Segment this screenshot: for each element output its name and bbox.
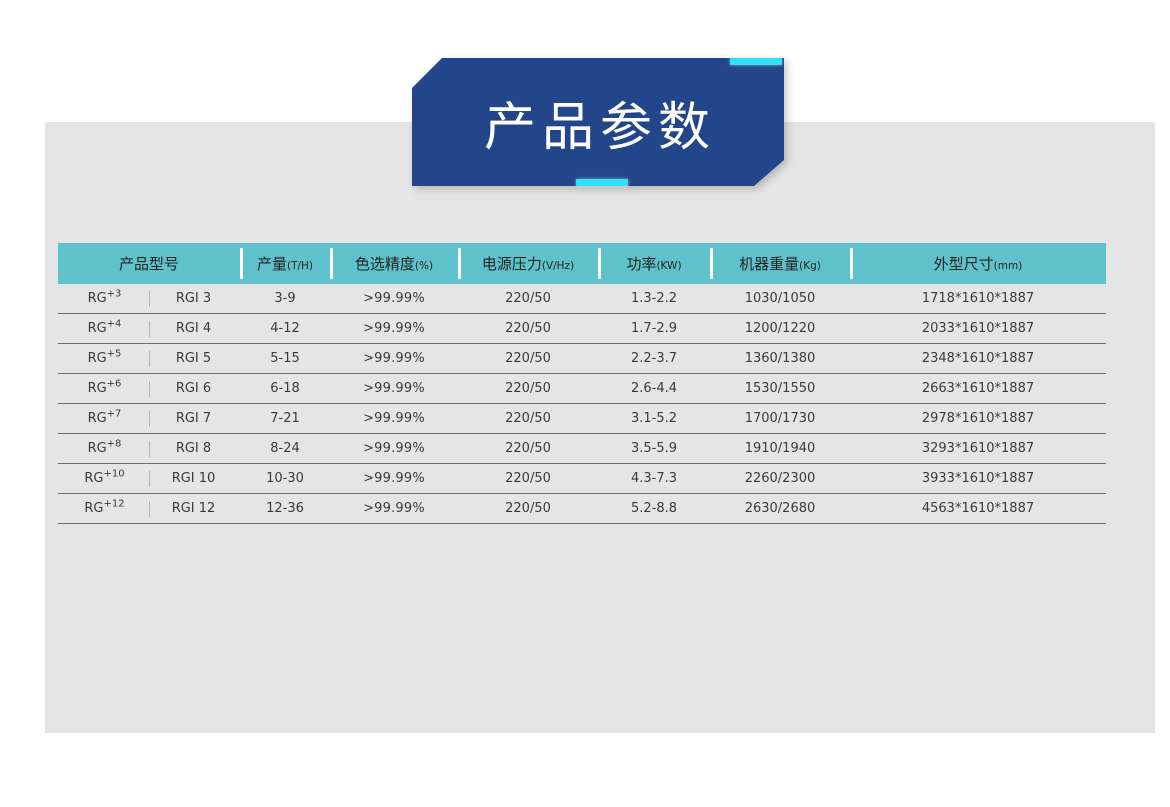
cell-voltage: 220/50 bbox=[458, 374, 598, 404]
cell-power: 4.3-7.3 bbox=[598, 464, 710, 494]
column-unit: (%) bbox=[415, 260, 433, 272]
model-secondary: RGI 10 bbox=[150, 471, 238, 486]
cell-accuracy: >99.99% bbox=[330, 344, 458, 374]
cell-accuracy: >99.99% bbox=[330, 374, 458, 404]
cell-weight: 2260/2300 bbox=[710, 464, 850, 494]
model-secondary: RGI 7 bbox=[150, 411, 238, 426]
cell-power: 2.6-4.4 bbox=[598, 374, 710, 404]
cell-dimensions: 3293*1610*1887 bbox=[850, 434, 1106, 464]
page-title-banner: 产品参数 bbox=[412, 58, 784, 186]
cell-power: 1.3-2.2 bbox=[598, 284, 710, 314]
column-unit: (V/Hz) bbox=[542, 260, 574, 272]
cell-power: 3.5-5.9 bbox=[598, 434, 710, 464]
cell-model: RG+8RGI 8 bbox=[58, 434, 240, 464]
cell-voltage: 220/50 bbox=[458, 344, 598, 374]
cell-model: RG+3RGI 3 bbox=[58, 284, 240, 314]
column-label: 产品型号 bbox=[119, 255, 179, 273]
cell-accuracy: >99.99% bbox=[330, 284, 458, 314]
page-title: 产品参数 bbox=[412, 58, 784, 186]
cell-weight: 1360/1380 bbox=[710, 344, 850, 374]
cell-accuracy: >99.99% bbox=[330, 464, 458, 494]
table-row: RG+12RGI 1212-36>99.99%220/505.2-8.82630… bbox=[58, 494, 1106, 524]
cell-voltage: 220/50 bbox=[458, 314, 598, 344]
cell-power: 5.2-8.8 bbox=[598, 494, 710, 524]
product-parameters-table: 产品型号 产量(T/H) 色选精度(%) 电源压力(V/Hz) 功率(KW) 机… bbox=[58, 243, 1106, 524]
column-header-voltage: 电源压力(V/Hz) bbox=[458, 243, 598, 284]
cell-model: RG+6RGI 6 bbox=[58, 374, 240, 404]
cell-model: RG+4RGI 4 bbox=[58, 314, 240, 344]
accent-bar-bottom bbox=[576, 179, 628, 186]
table-row: RG+3RGI 33-9>99.99%220/501.3-2.21030/105… bbox=[58, 284, 1106, 314]
model-primary: RG+8 bbox=[61, 441, 149, 456]
table-row: RG+10RGI 1010-30>99.99%220/504.3-7.32260… bbox=[58, 464, 1106, 494]
cell-accuracy: >99.99% bbox=[330, 494, 458, 524]
column-label: 色选精度 bbox=[355, 255, 415, 273]
model-secondary: RGI 8 bbox=[150, 441, 238, 456]
cell-accuracy: >99.99% bbox=[330, 404, 458, 434]
cell-weight: 1700/1730 bbox=[710, 404, 850, 434]
table-row: RG+5RGI 55-15>99.99%220/502.2-3.71360/13… bbox=[58, 344, 1106, 374]
cell-weight: 2630/2680 bbox=[710, 494, 850, 524]
cell-output: 8-24 bbox=[240, 434, 330, 464]
cell-voltage: 220/50 bbox=[458, 404, 598, 434]
column-header-model: 产品型号 bbox=[58, 243, 240, 284]
column-label: 外型尺寸 bbox=[934, 255, 994, 273]
cell-dimensions: 2978*1610*1887 bbox=[850, 404, 1106, 434]
model-secondary: RGI 4 bbox=[150, 321, 238, 336]
column-label: 机器重量 bbox=[739, 255, 799, 273]
model-primary: RG+12 bbox=[61, 501, 149, 516]
model-secondary: RGI 6 bbox=[150, 381, 238, 396]
model-primary: RG+4 bbox=[61, 321, 149, 336]
column-label: 电源压力 bbox=[482, 255, 542, 273]
column-header-output: 产量(T/H) bbox=[240, 243, 330, 284]
column-unit: (T/H) bbox=[287, 260, 313, 272]
cell-output: 3-9 bbox=[240, 284, 330, 314]
table-body: RG+3RGI 33-9>99.99%220/501.3-2.21030/105… bbox=[58, 284, 1106, 524]
model-primary: RG+3 bbox=[61, 291, 149, 306]
cell-dimensions: 1718*1610*1887 bbox=[850, 284, 1106, 314]
column-header-weight: 机器重量(Kg) bbox=[710, 243, 850, 284]
column-unit: (mm) bbox=[994, 260, 1023, 272]
table-row: RG+6RGI 66-18>99.99%220/502.6-4.41530/15… bbox=[58, 374, 1106, 404]
cell-voltage: 220/50 bbox=[458, 494, 598, 524]
cell-weight: 1030/1050 bbox=[710, 284, 850, 314]
cell-power: 3.1-5.2 bbox=[598, 404, 710, 434]
column-unit: (KW) bbox=[656, 260, 681, 272]
column-header-power: 功率(KW) bbox=[598, 243, 710, 284]
cell-dimensions: 4563*1610*1887 bbox=[850, 494, 1106, 524]
cell-output: 7-21 bbox=[240, 404, 330, 434]
cell-weight: 1910/1940 bbox=[710, 434, 850, 464]
cell-output: 6-18 bbox=[240, 374, 330, 404]
cell-dimensions: 2663*1610*1887 bbox=[850, 374, 1106, 404]
cell-output: 10-30 bbox=[240, 464, 330, 494]
model-primary: RG+10 bbox=[61, 471, 149, 486]
cell-accuracy: >99.99% bbox=[330, 434, 458, 464]
cell-voltage: 220/50 bbox=[458, 284, 598, 314]
cell-dimensions: 2033*1610*1887 bbox=[850, 314, 1106, 344]
cell-voltage: 220/50 bbox=[458, 464, 598, 494]
column-unit: (Kg) bbox=[799, 260, 821, 272]
cell-output: 12-36 bbox=[240, 494, 330, 524]
column-header-accuracy: 色选精度(%) bbox=[330, 243, 458, 284]
table-row: RG+4RGI 44-12>99.99%220/501.7-2.91200/12… bbox=[58, 314, 1106, 344]
model-primary: RG+5 bbox=[61, 351, 149, 366]
cell-output: 5-15 bbox=[240, 344, 330, 374]
cell-model: RG+12RGI 12 bbox=[58, 494, 240, 524]
cell-output: 4-12 bbox=[240, 314, 330, 344]
model-secondary: RGI 3 bbox=[150, 291, 238, 306]
cell-model: RG+10RGI 10 bbox=[58, 464, 240, 494]
model-primary: RG+7 bbox=[61, 411, 149, 426]
column-header-dimensions: 外型尺寸(mm) bbox=[850, 243, 1106, 284]
table-row: RG+7RGI 77-21>99.99%220/503.1-5.21700/17… bbox=[58, 404, 1106, 434]
model-primary: RG+6 bbox=[61, 381, 149, 396]
cell-voltage: 220/50 bbox=[458, 434, 598, 464]
model-secondary: RGI 5 bbox=[150, 351, 238, 366]
cell-dimensions: 3933*1610*1887 bbox=[850, 464, 1106, 494]
cell-accuracy: >99.99% bbox=[330, 314, 458, 344]
cell-weight: 1530/1550 bbox=[710, 374, 850, 404]
cell-power: 2.2-3.7 bbox=[598, 344, 710, 374]
table-row: RG+8RGI 88-24>99.99%220/503.5-5.91910/19… bbox=[58, 434, 1106, 464]
cell-power: 1.7-2.9 bbox=[598, 314, 710, 344]
cell-weight: 1200/1220 bbox=[710, 314, 850, 344]
column-label: 产量 bbox=[257, 255, 287, 273]
table-header-row: 产品型号 产量(T/H) 色选精度(%) 电源压力(V/Hz) 功率(KW) 机… bbox=[58, 243, 1106, 284]
cell-model: RG+7RGI 7 bbox=[58, 404, 240, 434]
cell-model: RG+5RGI 5 bbox=[58, 344, 240, 374]
accent-bar-top bbox=[730, 58, 782, 65]
column-label: 功率 bbox=[626, 255, 656, 273]
cell-dimensions: 2348*1610*1887 bbox=[850, 344, 1106, 374]
table-header: 产品型号 产量(T/H) 色选精度(%) 电源压力(V/Hz) 功率(KW) 机… bbox=[58, 243, 1106, 284]
model-secondary: RGI 12 bbox=[150, 501, 238, 516]
